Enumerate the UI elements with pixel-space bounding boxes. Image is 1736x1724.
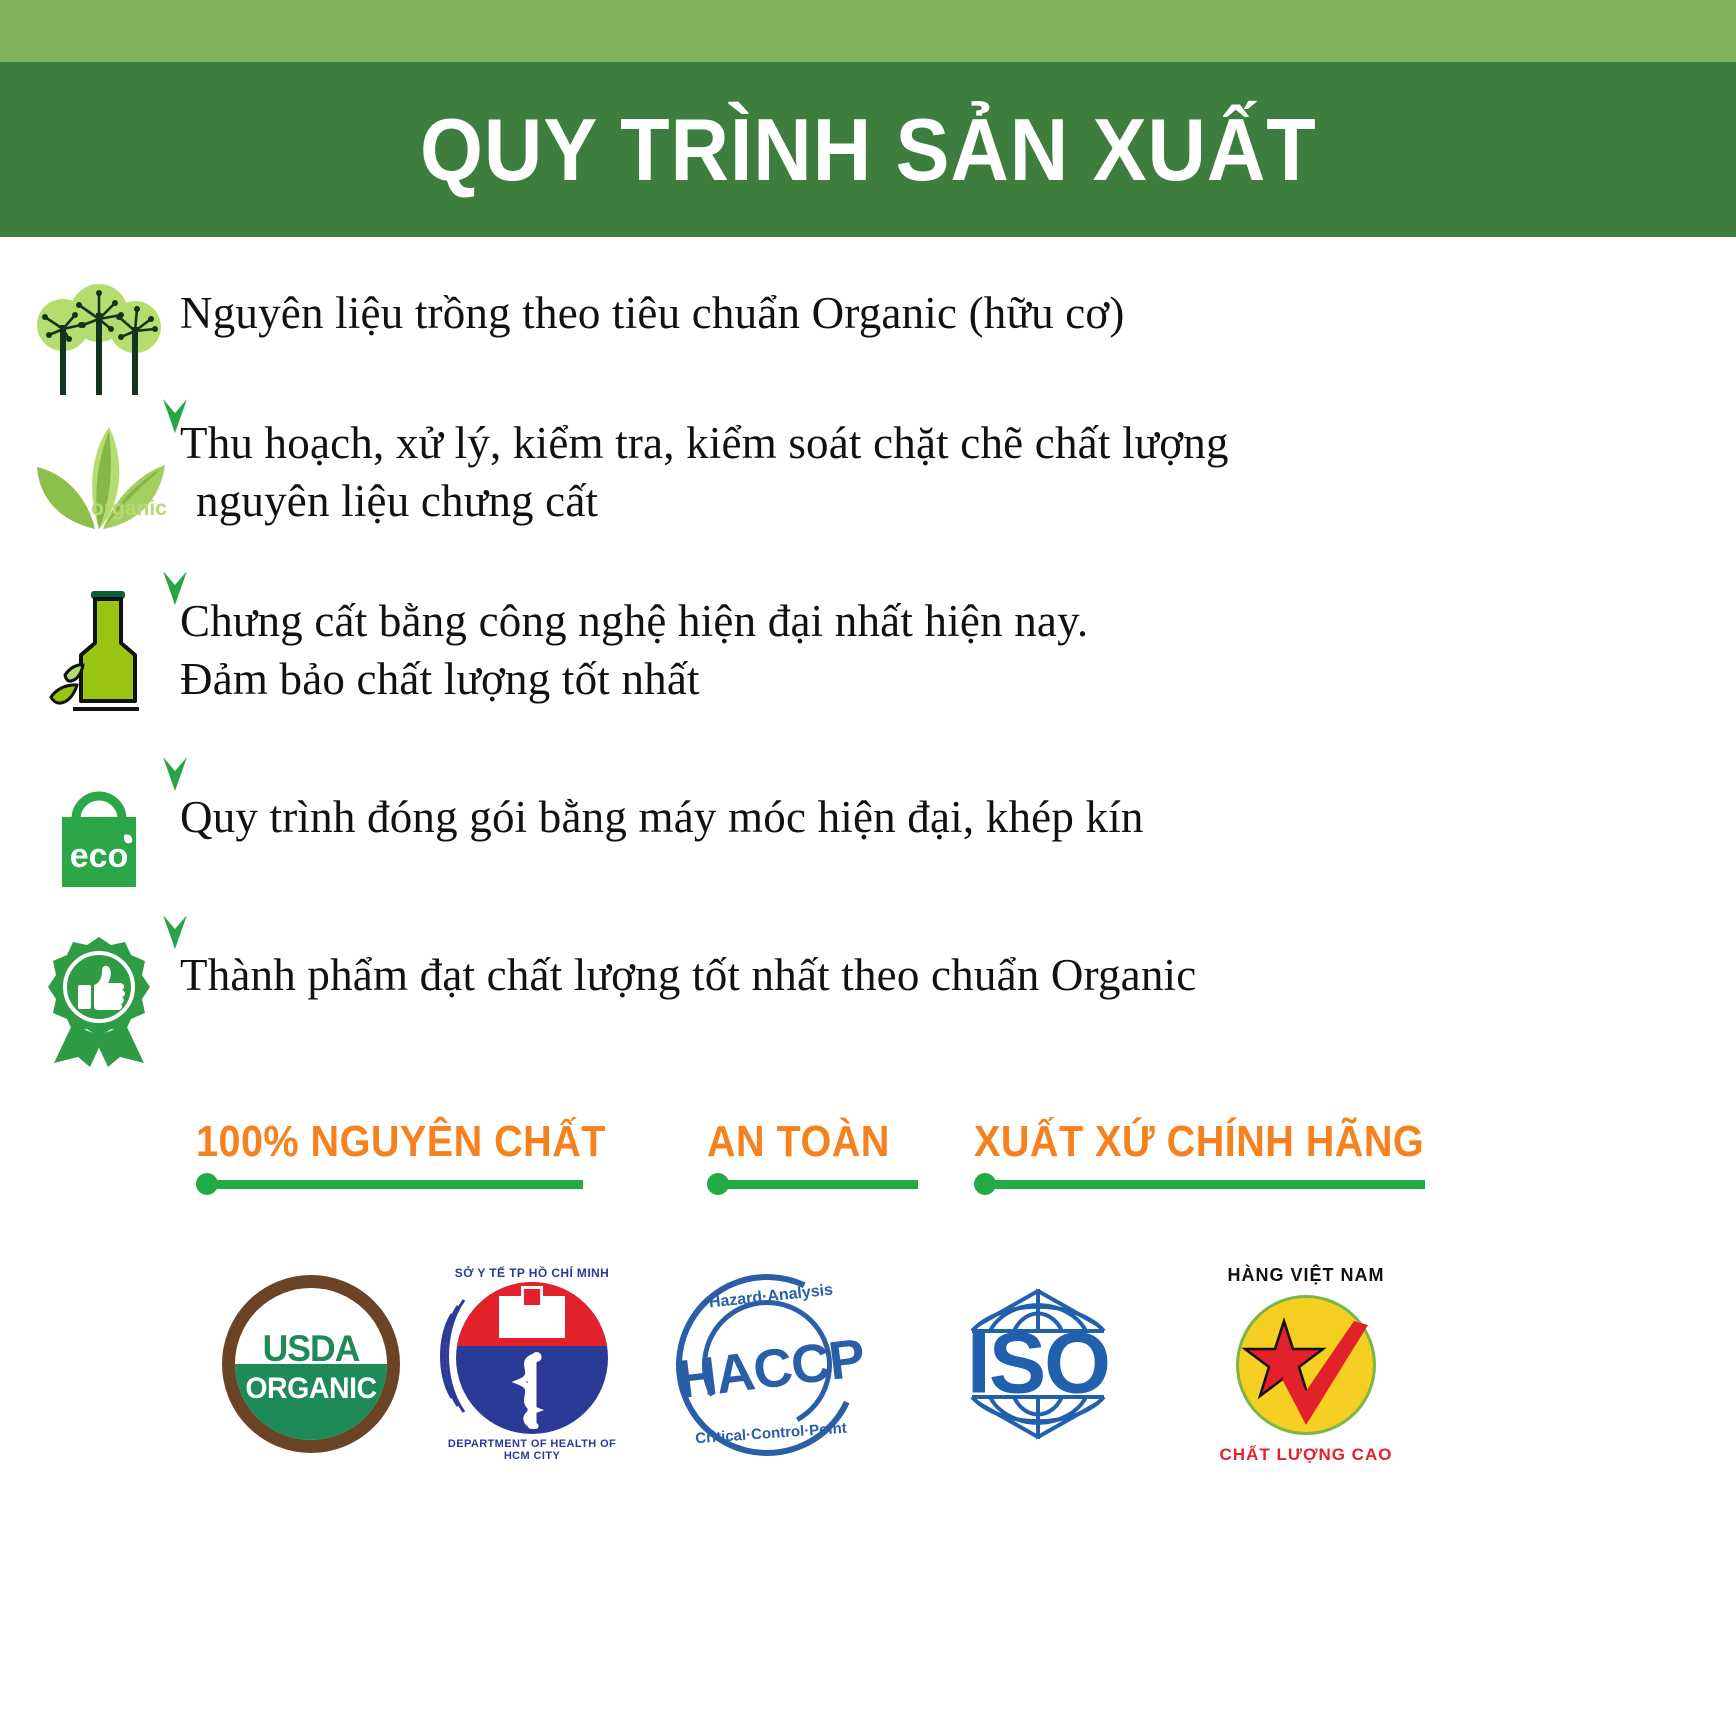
step-item: eco Quy trình đóng gói bằng máy móc hiện… [0,761,1736,911]
step-line-1: Nguyên liệu trồng theo tiêu chuẩn Organi… [180,288,1125,338]
step-icon-slot [0,271,180,401]
oil-bottle-icon [29,579,169,719]
hvnclc-star-check-icon [1198,1261,1414,1467]
quality-badge-thumbs-up-icon [34,933,164,1067]
iso-logo: ISO [912,1275,1164,1453]
feature-label: AN TOÀN [707,1119,897,1165]
step-text: Nguyên liệu trồng theo tiêu chuẩn Organi… [180,271,1165,343]
step-line-1: Thu hoạch, xử lý, kiểm tra, kiểm soát ch… [180,418,1229,468]
step-line-2: nguyên liệu chưng cất [180,473,1229,531]
step-text: Thành phẩm đạt chất lượng tốt nhất theo … [180,933,1236,1005]
step-icon-slot [0,933,180,1067]
organic-caption: organic [91,497,167,521]
feature-rule-bar [993,1180,1425,1189]
feature-item: AN TOÀN [707,1119,918,1191]
feature-rule [974,1177,1474,1191]
feature-rule [707,1177,918,1191]
hcm-logo-bottom-text: DEPARTMENT OF HEALTH OF HCM CITY [434,1438,630,1462]
three-trees-icon [29,271,169,401]
eco-bag-icon: eco [36,775,162,895]
usda-organic-text: ORGANIC [239,1372,383,1406]
feature-rule-bar [215,1180,583,1189]
step-line-2: Đảm bảo chất lượng tốt nhất [180,651,1088,709]
hang-viet-nam-chat-luong-cao-logo: HÀNG VIỆT NAM CHẤT LƯỢNG CAO [1198,1261,1414,1467]
hcm-emblem [456,1282,608,1434]
feature-rule [196,1177,651,1191]
certification-logos: USDA ORGANIC SỞ Y TẾ TP HỒ CHÍ MINH [0,1191,1736,1467]
feature-label: XUẤT XỨ CHÍNH HÃNG [974,1119,1424,1165]
step-item: Chưng cất bằng công nghệ hiện đại nhất h… [0,579,1736,761]
hcm-department-of-health-logo: SỞ Y TẾ TP HỒ CHÍ MINH DEPARTMENT OF HEA… [434,1266,630,1462]
asclepius-snake-icon [506,1352,554,1430]
step-line-1: Quy trình đóng gói bằng máy móc hiện đại… [180,792,1144,842]
step-icon-slot [0,579,180,719]
page-title: QUY TRÌNH SẢN XUẤT [420,106,1317,194]
feature-rule-bar [726,1180,918,1189]
step-icon-slot: eco [0,775,180,895]
hcm-building-shape [499,1296,565,1338]
usda-text: USDA [238,1328,384,1370]
step-item: Nguyên liệu trồng theo tiêu chuẩn Organi… [0,271,1736,401]
hvnclc-bottom-text: CHẤT LƯỢNG CAO [1198,1445,1414,1465]
step-text: Quy trình đóng gói bằng máy móc hiện đại… [180,775,1184,847]
step-line-1: Thành phẩm đạt chất lượng tốt nhất theo … [180,950,1196,1000]
step-item: Thành phẩm đạt chất lượng tốt nhất theo … [0,911,1736,1067]
usda-organic-logo: USDA ORGANIC [222,1275,400,1453]
hcm-logo-top-text: SỞ Y TẾ TP HỒ CHÍ MINH [434,1266,630,1280]
usda-badge: USDA ORGANIC [222,1275,400,1453]
step-text: Chưng cất bằng công nghệ hiện đại nhất h… [180,579,1128,708]
step-text: Thu hoạch, xử lý, kiểm tra, kiểm soát ch… [180,401,1269,530]
feature-item: XUẤT XỨ CHÍNH HÃNG [974,1119,1474,1191]
title-banner: QUY TRÌNH SẢN XUẤT [0,62,1736,237]
step-item: organic Thu hoạch, xử lý, kiểm tra, kiểm… [0,401,1736,579]
haccp-logo: Hazard·Analysis HACCP Critical·Control·P… [664,1266,878,1462]
production-steps-list: Nguyên liệu trồng theo tiêu chuẩn Organi… [0,237,1736,1067]
step-line-1: Chưng cất bằng công nghệ hiện đại nhất h… [180,596,1088,646]
svg-text:eco: eco [70,837,129,875]
step-icon-slot: organic [0,401,180,551]
feature-label: 100% NGUYÊN CHẤT [196,1119,606,1165]
top-accent-strip [0,0,1736,62]
feature-item: 100% NGUYÊN CHẤT [196,1119,651,1191]
iso-wordmark: ISO [912,1315,1164,1414]
feature-highlights: 100% NGUYÊN CHẤT AN TOÀN XUẤT XỨ CHÍNH H… [0,1067,1736,1191]
infographic-page: QUY TRÌNH SẢN XUẤT [0,0,1736,1724]
